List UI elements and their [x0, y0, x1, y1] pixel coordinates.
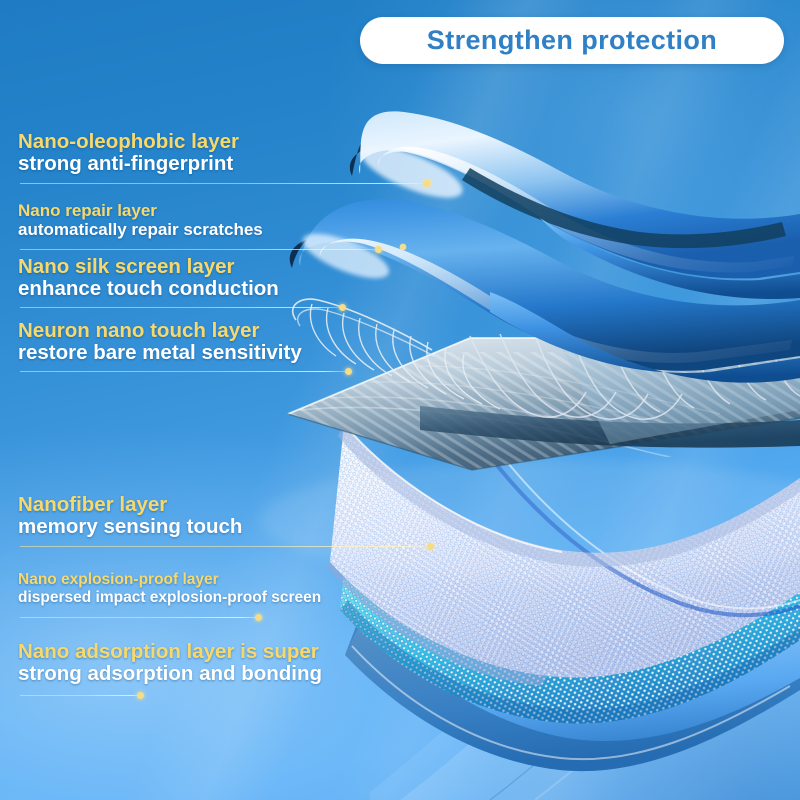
label-title-neuron-nano-touch: Neuron nano touch layer: [18, 320, 378, 342]
connector-line: [20, 307, 344, 308]
label-title-nano-silk-screen: Nano silk screen layer: [18, 256, 378, 278]
label-subtitle-neuron-nano-touch: restore bare metal sensitivity: [18, 342, 378, 365]
label-subtitle-nano-explosion-proof: dispersed impact explosion-proof screen: [18, 589, 378, 606]
label-nano-explosion-proof: Nano explosion-proof layer dispersed imp…: [18, 572, 378, 606]
label-nanofiber: Nanofiber layer memory sensing touch: [18, 494, 378, 539]
connector-dot: [423, 180, 430, 187]
layer-shape-nano-explosion-proof: [340, 498, 800, 724]
label-subtitle-nano-silk-screen: enhance touch conduction: [18, 278, 378, 301]
connector-dot: [255, 614, 262, 621]
label-subtitle-nanofiber: memory sensing touch: [18, 516, 378, 539]
label-nano-silk-screen: Nano silk screen layer enhance touch con…: [18, 256, 378, 301]
label-title-nanofiber: Nanofiber layer: [18, 494, 378, 516]
layer-shape-nano-repair: [284, 286, 800, 445]
connector-nano-explosion-proof: [20, 612, 260, 624]
connector-line: [20, 695, 142, 696]
page-title: Strengthen protection: [427, 25, 717, 56]
connector-dot: [137, 692, 144, 699]
label-nano-adsorption: Nano adsorption layer is super strong ad…: [18, 641, 378, 686]
page-title-pill: Strengthen protection: [360, 17, 784, 64]
connector-nano-silk-screen: [20, 302, 344, 314]
connector-line: [20, 617, 260, 618]
connector-line: [20, 371, 350, 372]
connector-line: [20, 249, 380, 250]
connector-nanofiber: [20, 541, 432, 553]
label-title-nano-explosion-proof: Nano explosion-proof layer: [18, 572, 378, 589]
label-title-nano-repair: Nano repair layer: [18, 202, 378, 220]
connector-nano-oleophobic: [20, 178, 428, 190]
connector-dot: [375, 246, 382, 253]
label-title-nano-adsorption: Nano adsorption layer is super: [18, 641, 378, 663]
infographic-canvas: Strengthen protection Nano-oleophobic la…: [0, 0, 800, 800]
background-vignette-bottom-right: [440, 560, 800, 800]
connector-dot: [427, 543, 434, 550]
connector-line: [20, 546, 432, 547]
layer-shape-nano-oleophobic: [350, 111, 800, 299]
layer-shape-nano-adsorption: [345, 600, 800, 771]
background-glow-bottom-left: [0, 430, 580, 800]
connector-nano-adsorption: [20, 690, 142, 702]
label-nano-repair: Nano repair layer automatically repair s…: [18, 202, 378, 239]
layer-shape-nanofiber: [326, 424, 800, 686]
label-subtitle-nano-oleophobic: strong anti-fingerprint: [18, 153, 378, 176]
label-subtitle-nano-adsorption: strong adsorption and bonding: [18, 663, 378, 686]
label-title-nano-oleophobic: Nano-oleophobic layer: [18, 131, 378, 153]
connector-dot: [345, 368, 352, 375]
connector-line: [20, 183, 428, 184]
label-neuron-nano-touch: Neuron nano touch layer restore bare met…: [18, 320, 378, 365]
connector-neuron-nano-touch: [20, 366, 350, 378]
connector-dot: [339, 304, 346, 311]
background-wave-pattern: [370, 500, 800, 800]
label-subtitle-nano-repair: automatically repair scratches: [18, 220, 378, 239]
label-nano-oleophobic: Nano-oleophobic layer strong anti-finger…: [18, 131, 378, 176]
